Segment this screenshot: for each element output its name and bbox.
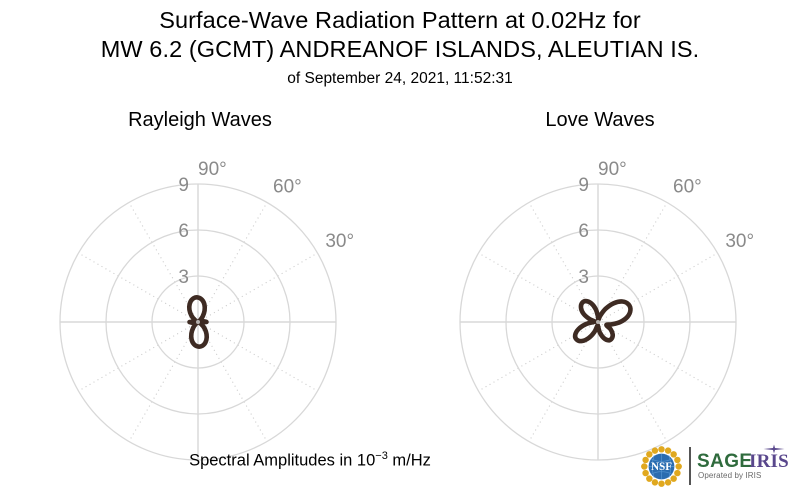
radial-tick-label: 6 — [178, 221, 189, 242]
nsf-ray-figure — [642, 457, 648, 463]
angular-tick-label: 90° — [198, 159, 227, 180]
nsf-ray-figure — [670, 451, 676, 457]
nsf-ray-figure — [646, 475, 652, 481]
page-title-line-2: MW 6.2 (GCMT) ANDREANOF ISLANDS, ALEUTIA… — [0, 35, 800, 64]
radial-tick-label: 3 — [178, 267, 189, 288]
radial-tick-label: 9 — [178, 175, 189, 196]
angular-tick-label: 60° — [673, 177, 702, 198]
panel-title-rayleigh: Rayleigh Waves — [0, 108, 400, 132]
polar-svg-rayleigh: 369 30°60°90° — [0, 134, 400, 464]
nsf-ray-figure — [652, 447, 658, 453]
sage-logo-text: SAGE — [697, 451, 752, 473]
nsf-logo-text: NSF — [651, 461, 672, 473]
angular-tick-label: 60° — [273, 177, 302, 198]
logo-divider — [689, 447, 691, 485]
radial-tick-label: 6 — [578, 221, 589, 242]
radial-tick-label: 9 — [578, 175, 589, 196]
caption-suffix: m/Hz — [388, 452, 431, 470]
polar-spoke-dotted — [198, 202, 267, 322]
nsf-ray-figure — [641, 463, 647, 469]
radial-tick-labels-rayleigh: 369 — [178, 175, 189, 288]
polar-spoke-dotted — [129, 322, 198, 442]
page-subtitle: of September 24, 2021, 11:52:31 — [0, 68, 800, 90]
nsf-ray-figure — [665, 447, 671, 453]
caption-prefix: Spectral Amplitudes in 10 — [189, 452, 375, 470]
angular-tick-labels-rayleigh: 30°60°90° — [198, 159, 354, 252]
angular-tick-label: 30° — [725, 231, 754, 252]
nsf-ray-figure — [652, 479, 658, 485]
polar-spoke-dotted — [598, 253, 718, 322]
polar-plot-love: 369 30°60°90° — [400, 134, 800, 464]
nsf-logo-icon[interactable]: NSF — [640, 445, 683, 488]
polar-spoke-dotted — [478, 322, 598, 391]
polar-spoke-dotted — [78, 322, 198, 391]
panel-title-love: Love Waves — [400, 108, 800, 132]
operated-by-text: Operated by IRIS — [698, 471, 761, 480]
title-block: Surface-Wave Radiation Pattern at 0.02Hz… — [0, 6, 800, 90]
nsf-ray-figure — [658, 446, 664, 452]
page-title-line-1: Surface-Wave Radiation Pattern at 0.02Hz… — [0, 6, 800, 35]
radiation-pattern-curve-love — [575, 301, 630, 341]
iris-logo-text: IRIS — [749, 451, 789, 473]
nsf-ray-figure — [665, 479, 671, 485]
nsf-ray-figure — [675, 463, 681, 469]
polar-spoke-dotted — [198, 322, 318, 391]
origin-marker-love — [596, 320, 600, 324]
radial-tick-label: 3 — [578, 267, 589, 288]
nsf-ray-figure — [658, 480, 664, 486]
logo-block: NSF SAGE IRIS Operated by IRIS — [640, 444, 795, 490]
polar-plot-rayleigh: 369 30°60°90° — [0, 134, 400, 464]
angular-tick-labels-love: 30°60°90° — [598, 159, 754, 252]
polar-spoke-dotted — [198, 253, 318, 322]
sage-iris-logo[interactable]: SAGE IRIS Operated by IRIS — [697, 448, 795, 488]
polar-svg-love: 369 30°60°90° — [400, 134, 800, 464]
angular-tick-label: 90° — [598, 159, 627, 180]
origin-marker-rayleigh — [196, 320, 200, 324]
caption-exponent: −3 — [375, 450, 388, 462]
nsf-ray-figure — [646, 451, 652, 457]
radial-tick-labels-love: 369 — [578, 175, 589, 288]
angular-tick-label: 30° — [325, 231, 354, 252]
footer-caption: Spectral Amplitudes in 10−3 m/Hz — [0, 450, 620, 471]
polar-spoke-dotted — [598, 322, 718, 391]
nsf-ray-figure — [642, 470, 648, 476]
nsf-ray-figure — [674, 457, 680, 463]
nsf-ray-figure — [670, 475, 676, 481]
nsf-ray-figure — [674, 470, 680, 476]
